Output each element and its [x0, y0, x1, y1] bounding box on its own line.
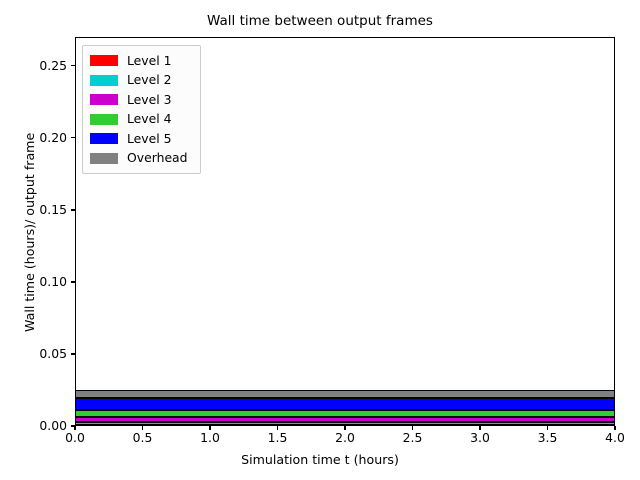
x-tick-label: 3.5	[518, 430, 578, 445]
legend-swatch-icon	[90, 153, 118, 164]
y-tick-mark	[71, 137, 75, 138]
legend-swatch-icon	[90, 94, 118, 105]
x-tick-label: 1.0	[180, 430, 240, 445]
y-tick-mark	[71, 65, 75, 66]
legend-item-label: Level 5	[127, 133, 172, 145]
x-tick-label: 2.0	[315, 430, 375, 445]
legend-item-level-4[interactable]: Level 4	[90, 110, 191, 130]
x-tick-label: 1.5	[248, 430, 308, 445]
legend: Level 1Level 2Level 3Level 4Level 5Overh…	[82, 45, 201, 174]
y-tick-label: 0.05	[3, 346, 67, 361]
y-tick-label: 0.10	[3, 274, 67, 289]
legend-item-label: Level 2	[127, 74, 172, 86]
y-tick-mark	[71, 353, 75, 354]
legend-item-label: Level 4	[127, 113, 172, 125]
x-tick-label: 2.5	[383, 430, 443, 445]
legend-item-label: Level 3	[127, 94, 172, 106]
legend-swatch-icon	[90, 75, 118, 86]
legend-swatch-icon	[90, 55, 118, 66]
legend-item-level-1[interactable]: Level 1	[90, 51, 191, 71]
legend-item-level-5[interactable]: Level 5	[90, 129, 191, 149]
y-tick-label: 0.15	[3, 202, 67, 217]
x-tick-label: 3.0	[450, 430, 510, 445]
y-tick-label: 0.20	[3, 130, 67, 145]
legend-swatch-icon	[90, 133, 118, 144]
legend-swatch-icon	[90, 114, 118, 125]
x-tick-label: 4.0	[585, 430, 640, 445]
legend-item-level-3[interactable]: Level 3	[90, 90, 191, 110]
y-tick-label: 0.25	[3, 58, 67, 73]
chart-title: Wall time between output frames	[0, 13, 640, 29]
x-tick-label: 0.0	[45, 430, 105, 445]
bar-segment-level-2	[75, 422, 615, 425]
y-tick-mark	[71, 209, 75, 210]
legend-item-label: Overhead	[127, 152, 188, 164]
bar-segment-level-3	[75, 417, 615, 422]
y-axis-label: Wall time (hours)/ output frame	[22, 132, 37, 331]
x-axis-label: Simulation time t (hours)	[0, 452, 640, 467]
legend-item-overhead[interactable]: Overhead	[90, 149, 191, 169]
figure-canvas: Wall time between output frames Wall tim…	[0, 0, 640, 480]
x-tick-label: 0.5	[113, 430, 173, 445]
legend-item-label: Level 1	[127, 55, 172, 67]
bar-segment-level-5	[75, 398, 615, 409]
bar-segment-overhead	[75, 390, 615, 399]
y-tick-mark	[71, 281, 75, 282]
bar-segment-level-4	[75, 410, 615, 417]
legend-item-level-2[interactable]: Level 2	[90, 71, 191, 91]
